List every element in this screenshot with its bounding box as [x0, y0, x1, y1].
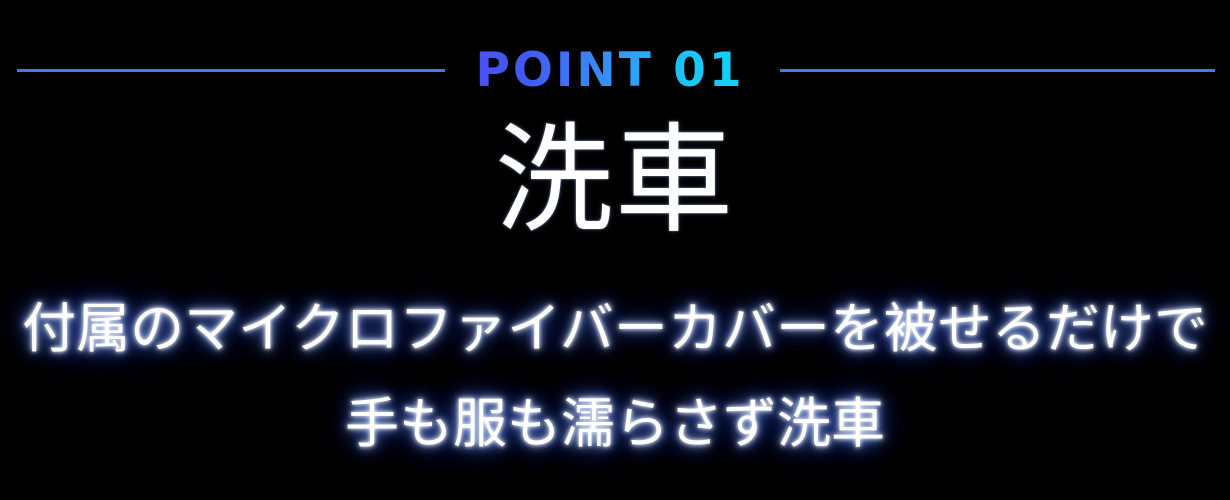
divider-left-icon [17, 69, 445, 72]
point-banner: POINT 01 洗車 付属のマイクロファイバーカバーを被せるだけで 手も服も濡… [0, 0, 1230, 500]
subcopy-line-2: 手も服も濡らさず洗車 [0, 376, 1230, 471]
eyebrow-label: POINT 01 [475, 47, 744, 94]
subcopy-line-1: 付属のマイクロファイバーカバーを被せるだけで [0, 281, 1230, 376]
eyebrow-row: POINT 01 [0, 30, 1230, 110]
page-title: 洗車 [0, 118, 1230, 243]
divider-right-icon [780, 69, 1215, 72]
subcopy-block: 付属のマイクロファイバーカバーを被せるだけで 手も服も濡らさず洗車 [0, 281, 1230, 471]
